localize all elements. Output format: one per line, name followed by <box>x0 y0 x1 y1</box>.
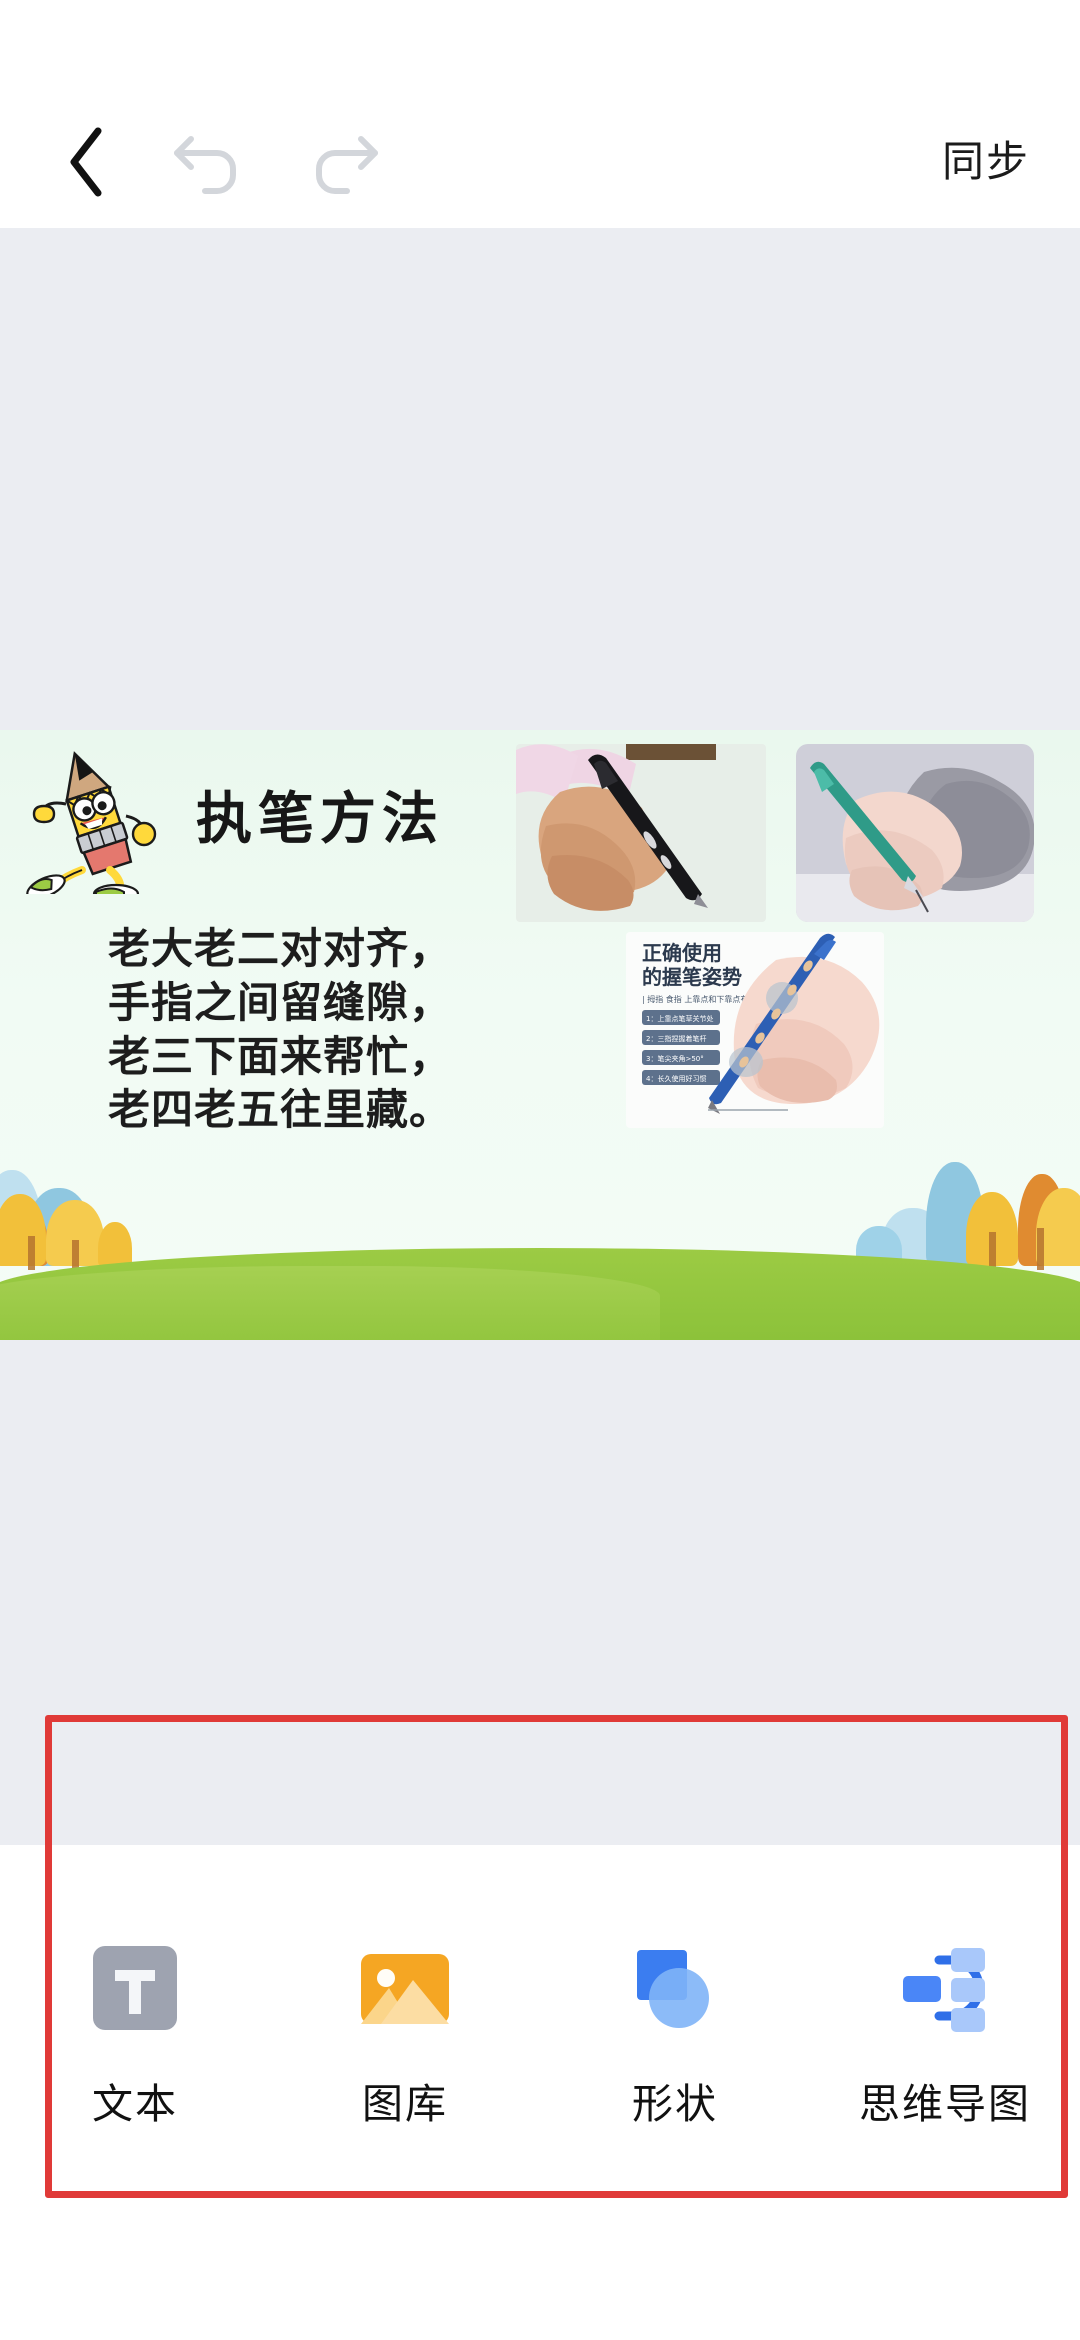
decor-tree-trunk <box>28 1236 35 1270</box>
slide-title[interactable]: 执笔方法 <box>196 774 444 855</box>
app-root: 同步 <box>0 0 1080 2340</box>
undo-button[interactable] <box>160 118 260 206</box>
bottom-tool-row: 文本 图库 形状 <box>0 1940 1080 2140</box>
svg-text:3：笔尖夹角>50°: 3：笔尖夹角>50° <box>646 1054 704 1063</box>
tool-mindmap-label: 思维导图 <box>859 2070 1031 2130</box>
tool-text[interactable]: 文本 <box>35 1940 235 2130</box>
sync-button[interactable]: 同步 <box>932 122 1040 195</box>
mindmap-icon <box>893 1940 997 2044</box>
svg-text:4：长久使用好习惯: 4：长久使用好习惯 <box>646 1074 706 1083</box>
decor-tree-trunk <box>989 1232 996 1270</box>
svg-text:的握笔姿势: 的握笔姿势 <box>642 965 742 989</box>
redo-button[interactable] <box>292 118 392 206</box>
tool-shapes-label: 形状 <box>632 2070 718 2130</box>
undo-arrow-icon <box>171 127 249 197</box>
decor-tree-trunk <box>1037 1228 1044 1270</box>
slide-image-hand-green-pencil[interactable] <box>796 744 1034 922</box>
back-button[interactable] <box>42 118 130 206</box>
svg-text:正确使用: 正确使用 <box>642 941 722 965</box>
photo-infographic-correct-grip: 正确使用 的握笔姿势 | 拇指 食指 上靠点和下靠点有建可循 | 1：上靠点笔草… <box>626 932 884 1128</box>
photo-hand-holding-black-pen <box>516 744 766 922</box>
svg-text:2：三指捏握着笔杆: 2：三指捏握着笔杆 <box>646 1034 706 1043</box>
decor-grass-front <box>0 1266 660 1340</box>
tool-shapes[interactable]: 形状 <box>575 1940 775 2130</box>
slide-canvas[interactable]: 执笔方法 老大老二对对齐， 手指之间留缝隙， 老三下面来帮忙， 老四老五往里藏。 <box>0 228 1080 1715</box>
photo-hand-holding-green-pencil <box>796 744 1034 922</box>
bottom-tray-gap <box>0 1715 1080 1845</box>
running-pencil-cartoon-icon <box>22 744 172 894</box>
tool-mindmap[interactable]: 思维导图 <box>845 1940 1045 2130</box>
slide-poem-text[interactable]: 老大老二对对齐， 手指之间留缝隙， 老三下面来帮忙， 老四老五往里藏。 <box>108 922 452 1137</box>
slide-image-grip-infographic[interactable]: 正确使用 的握笔姿势 | 拇指 食指 上靠点和下靠点有建可循 | 1：上靠点笔草… <box>626 932 884 1128</box>
redo-arrow-icon <box>303 127 381 197</box>
decor-tree-trunk <box>72 1240 79 1270</box>
slide-image-hand-black-pen[interactable] <box>516 744 766 922</box>
running-pencil-mascot[interactable] <box>22 744 172 894</box>
tool-gallery-label: 图库 <box>362 2070 448 2130</box>
svg-text:1：上靠点笔草关节处: 1：上靠点笔草关节处 <box>646 1014 713 1023</box>
slide-page[interactable]: 执笔方法 老大老二对对齐， 手指之间留缝隙， 老三下面来帮忙， 老四老五往里藏。 <box>0 730 1080 1340</box>
chevron-left-icon <box>64 125 108 199</box>
top-toolbar: 同步 <box>0 0 1080 228</box>
text-t-icon <box>83 1940 187 2044</box>
shapes-square-circle-icon <box>623 1940 727 2044</box>
tool-text-label: 文本 <box>92 2070 178 2130</box>
tool-gallery[interactable]: 图库 <box>305 1940 505 2130</box>
image-gallery-icon <box>353 1940 457 2044</box>
decor-tree <box>98 1222 132 1266</box>
